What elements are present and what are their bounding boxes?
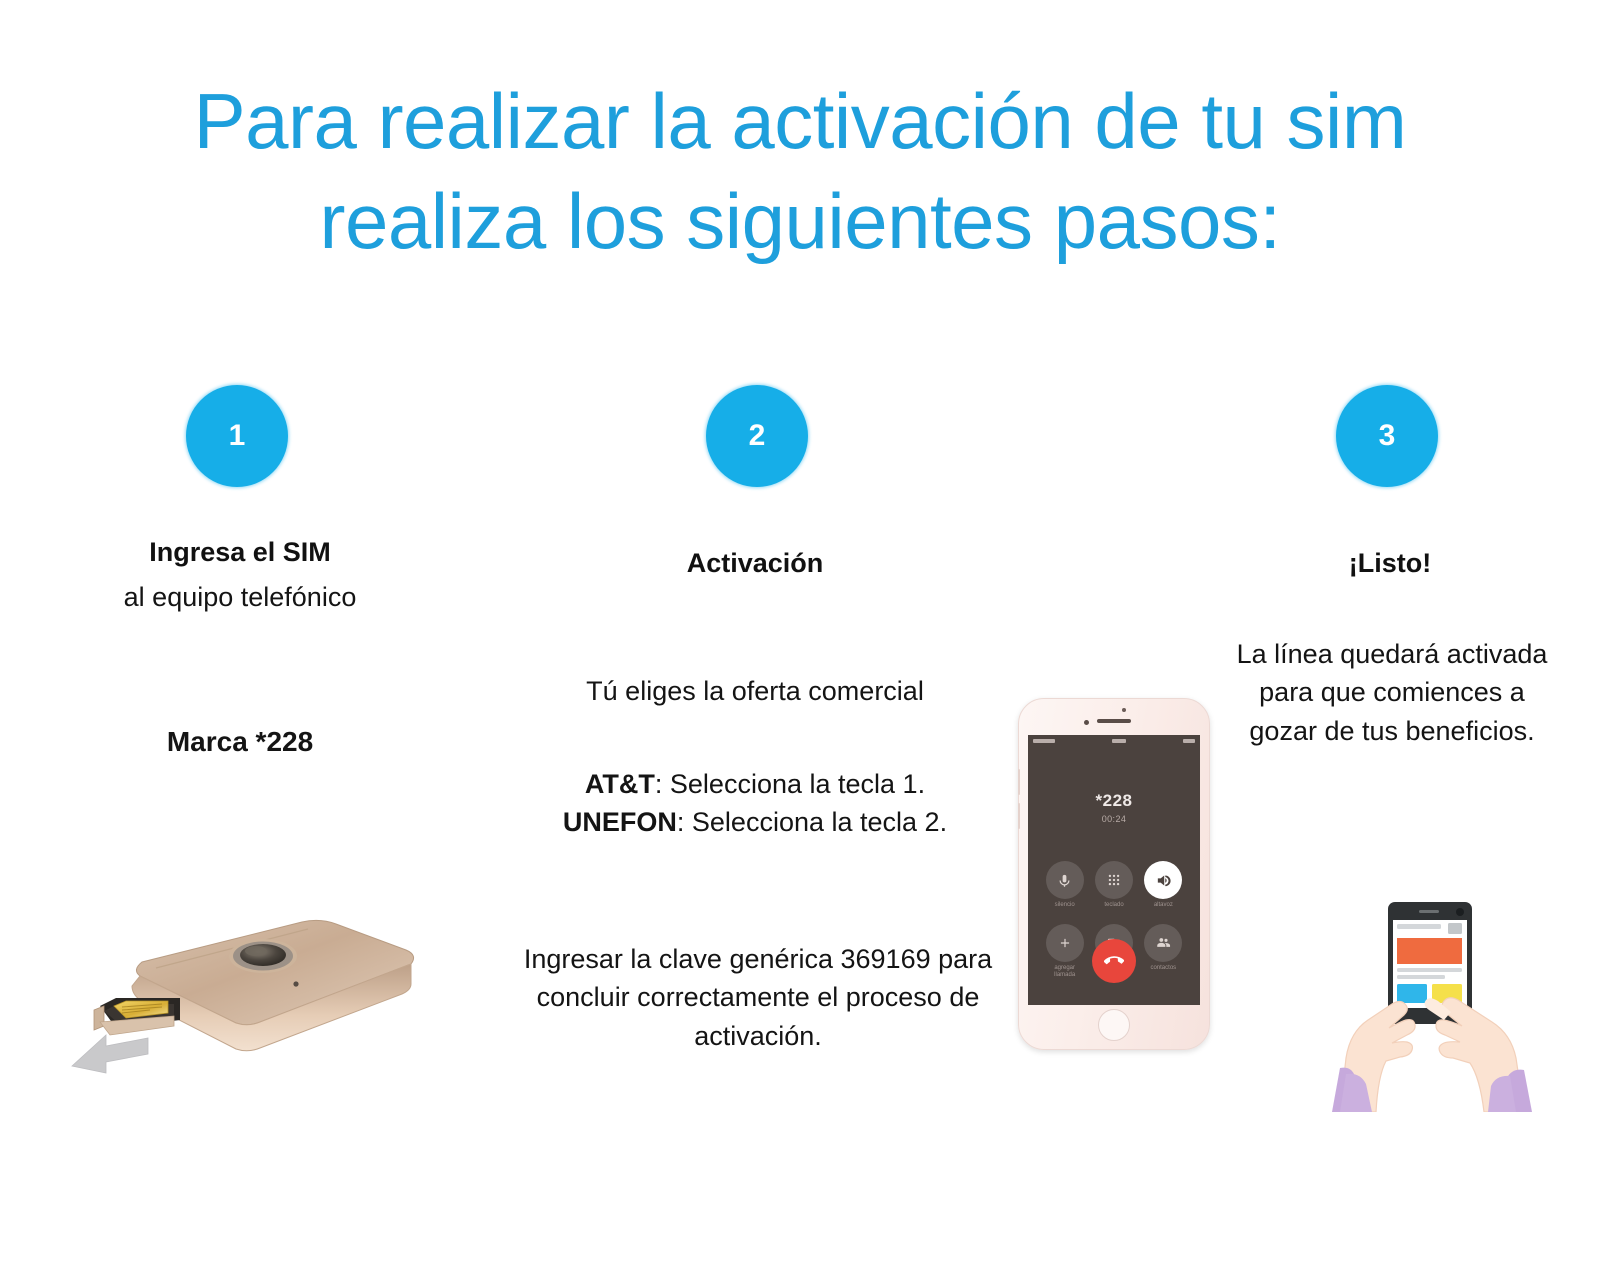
step-2-intro: Tú eliges la oferta comercial: [500, 672, 1010, 710]
carrier-name-att: AT&T: [585, 769, 655, 799]
page-title: Para realizar la activación de tu sim re…: [0, 72, 1600, 272]
proximity-sensor-icon: [1084, 720, 1089, 725]
sim-tray-phone-illustration: [70, 880, 430, 1080]
step-badge-3: 3: [1336, 385, 1438, 487]
speaker-icon: [1144, 861, 1182, 899]
carrier-instruction-unefon: : Selecciona la tecla 2.: [677, 807, 947, 837]
volume-up-button: [1018, 769, 1020, 795]
signal-bars-icon: [1033, 739, 1055, 743]
sim-tray-svg: [70, 880, 430, 1080]
step-2-carrier-options: AT&T: Selecciona la tecla 1. UNEFON: Sel…: [500, 765, 1010, 842]
carrier-instruction-att: : Selecciona la tecla 1.: [655, 769, 925, 799]
infographic-poster: Para realizar la activación de tu sim re…: [0, 0, 1600, 1280]
phone-screen: *228 00:24 silencio teclado: [1028, 735, 1200, 1005]
step-badge-1: 1: [186, 385, 288, 487]
hands-holding-phone-illustration: [1288, 862, 1568, 1112]
call-control-keypad[interactable]: teclado: [1089, 861, 1138, 910]
call-control-label-contacts: contactos: [1139, 965, 1188, 973]
step-3-body: La línea quedará activada para que comie…: [1232, 635, 1552, 750]
mute-icon: [1046, 861, 1084, 899]
end-call-button[interactable]: [1092, 939, 1136, 983]
call-control-contacts[interactable]: contactos: [1139, 924, 1188, 980]
step-badge-2: 2: [706, 385, 808, 487]
step-1-subheading: al equipo telefónico: [40, 578, 440, 616]
call-control-label-speaker: altavoz: [1139, 902, 1188, 910]
carrier-name-unefon: UNEFON: [563, 807, 677, 837]
call-control-speaker[interactable]: altavoz: [1139, 861, 1188, 910]
end-call-icon: [1104, 951, 1124, 971]
dialed-number: *228: [1028, 791, 1200, 811]
carrier-option-att: AT&T: Selecciona la tecla 1.: [500, 765, 1010, 803]
keypad-icon: [1095, 861, 1133, 899]
earpiece-speaker: [1097, 719, 1131, 723]
call-control-add-call[interactable]: agregar llamada: [1040, 924, 1089, 980]
step-number-2: 2: [749, 419, 766, 453]
step-2-heading: Activación: [520, 545, 990, 582]
step-number-3: 3: [1379, 419, 1396, 453]
step-3-heading: ¡Listo!: [1230, 545, 1550, 582]
battery-icon: [1183, 739, 1195, 743]
call-control-label-keypad: teclado: [1089, 902, 1138, 910]
front-camera-icon: [1122, 708, 1126, 712]
add-call-icon: [1046, 924, 1084, 962]
phone-chassis: *228 00:24 silencio teclado: [1018, 698, 1210, 1050]
volume-down-button: [1018, 803, 1020, 829]
step-1-action: Marca *228: [40, 722, 440, 762]
step-number-1: 1: [229, 419, 246, 453]
iphone-in-call-illustration: *228 00:24 silencio teclado: [1018, 698, 1210, 1050]
status-bar: [1028, 735, 1200, 747]
clock-indicator: [1112, 739, 1126, 743]
step-1-heading: Ingresa el SIM: [40, 534, 440, 571]
contacts-icon: [1144, 924, 1182, 962]
call-timer: 00:24: [1028, 814, 1200, 824]
hands-phone-svg: [1288, 862, 1568, 1112]
call-control-label-add-call: agregar llamada: [1040, 965, 1089, 980]
step-2-note: Ingresar la clave genérica 369169 para c…: [508, 940, 1008, 1055]
call-control-mute[interactable]: silencio: [1040, 861, 1089, 910]
carrier-option-unefon: UNEFON: Selecciona la tecla 2.: [500, 803, 1010, 841]
call-control-label-mute: silencio: [1040, 902, 1089, 910]
home-button[interactable]: [1098, 1009, 1130, 1041]
